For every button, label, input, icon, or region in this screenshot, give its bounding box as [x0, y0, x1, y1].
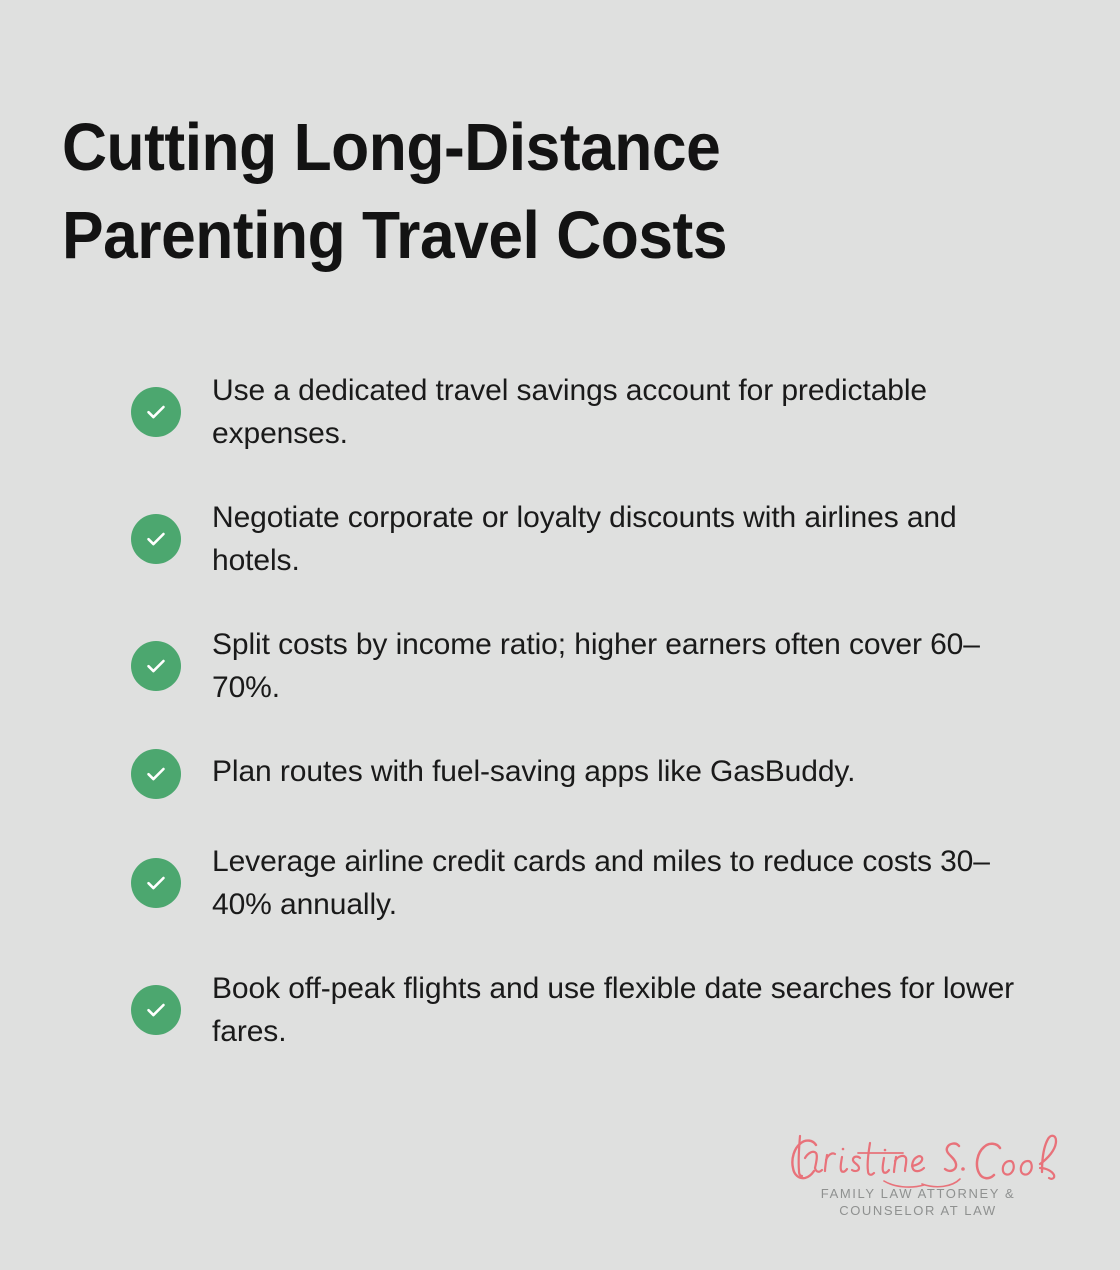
check-circle-icon [131, 514, 181, 564]
check-circle-icon [131, 858, 181, 908]
check-circle-icon [131, 387, 181, 437]
logo-tagline: FAMILY LAW ATTORNEY & COUNSELOR AT LAW [772, 1185, 1064, 1219]
page-title-block: Cutting Long-Distance Parenting Travel C… [62, 104, 962, 280]
check-circle-icon [131, 641, 181, 691]
page-title: Cutting Long-Distance Parenting Travel C… [62, 104, 899, 280]
infographic-card: Cutting Long-Distance Parenting Travel C… [0, 0, 1120, 1270]
list-item: Plan routes with fuel-saving apps like G… [131, 750, 1031, 799]
list-item: Negotiate corporate or loyalty discounts… [131, 496, 1031, 582]
check-circle-icon [131, 749, 181, 799]
list-item-text: Plan routes with fuel-saving apps like G… [212, 750, 1030, 793]
list-item-text: Leverage airline credit cards and miles … [212, 840, 1030, 926]
list-item-text: Negotiate corporate or loyalty discounts… [212, 496, 1030, 582]
list-item: Split costs by income ratio; higher earn… [131, 623, 1031, 709]
list-item-text: Split costs by income ratio; higher earn… [212, 623, 1030, 709]
list-item-text: Use a dedicated travel savings account f… [212, 369, 1030, 455]
brand-logo: FAMILY LAW ATTORNEY & COUNSELOR AT LAW [772, 1124, 1072, 1234]
check-circle-icon [131, 985, 181, 1035]
list-item: Leverage airline credit cards and miles … [131, 840, 1031, 926]
tips-list: Use a dedicated travel savings account f… [131, 369, 1031, 1053]
list-item: Use a dedicated travel savings account f… [131, 369, 1031, 455]
list-item-text: Book off-peak flights and use flexible d… [212, 967, 1030, 1053]
list-item: Book off-peak flights and use flexible d… [131, 967, 1031, 1053]
